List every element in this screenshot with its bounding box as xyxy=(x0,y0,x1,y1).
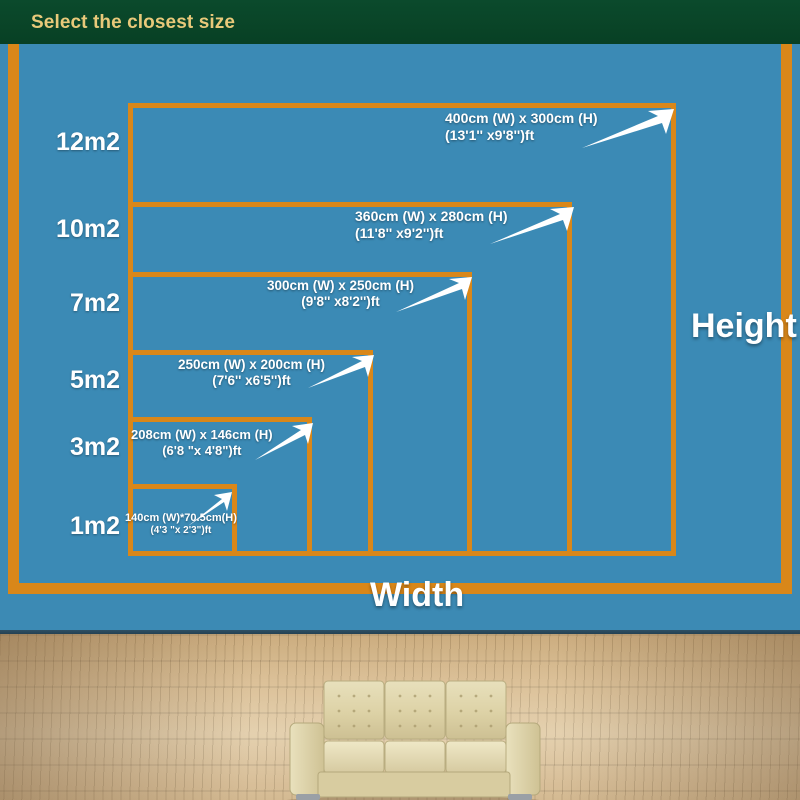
screenshot-root: 12m2 10m2 7m2 5m2 3m2 1m2 400cm (W) x 30… xyxy=(0,0,800,800)
dim-metric-5m2: 250cm (W) x 200cm (H) xyxy=(178,357,325,373)
dim-metric-10m2: 360cm (W) x 280cm (H) xyxy=(355,208,508,225)
dim-label-3m2: 208cm (W) x 146cm (H) (6'8 "x 4'8")ft xyxy=(131,427,273,459)
arrow-icon-5m2 xyxy=(306,354,376,390)
dim-imperial-12m2: (13'1'' x9'8'')ft xyxy=(445,127,598,144)
arrow-icon-7m2 xyxy=(394,276,474,314)
area-label-12m2: 12m2 xyxy=(42,128,120,157)
dim-metric-12m2: 400cm (W) x 300cm (H) xyxy=(445,110,598,127)
dim-imperial-3m2: (6'8 "x 4'8")ft xyxy=(131,443,273,459)
dim-label-5m2: 250cm (W) x 200cm (H) (7'6'' x6'5'')ft xyxy=(178,357,325,390)
area-label-1m2: 1m2 xyxy=(42,512,120,541)
area-label-10m2: 10m2 xyxy=(42,215,120,244)
floor-shadow-right xyxy=(560,634,800,800)
page-title: Select the closest size xyxy=(31,12,235,34)
floor-shadow-left xyxy=(0,634,250,800)
area-label-3m2: 3m2 xyxy=(42,433,120,462)
arrow-icon-10m2 xyxy=(488,206,576,246)
arrow-icon-1m2 xyxy=(186,490,234,528)
dim-metric-7m2: 300cm (W) x 250cm (H) xyxy=(267,278,414,294)
dim-imperial-5m2: (7'6'' x6'5'')ft xyxy=(178,373,325,389)
dim-metric-3m2: 208cm (W) x 146cm (H) xyxy=(131,427,273,443)
axis-label-width: Width xyxy=(370,576,464,615)
dim-imperial-7m2: (9'8'' x8'2'')ft xyxy=(267,294,414,310)
axis-label-height: Height xyxy=(691,307,797,346)
sofa-image xyxy=(268,675,558,800)
arrow-icon-12m2 xyxy=(580,108,676,150)
area-label-7m2: 7m2 xyxy=(42,289,120,318)
size-chart-content: 12m2 10m2 7m2 5m2 3m2 1m2 400cm (W) x 30… xyxy=(8,12,792,594)
dim-label-7m2: 300cm (W) x 250cm (H) (9'8'' x8'2'')ft xyxy=(267,278,414,311)
area-label-5m2: 5m2 xyxy=(42,366,120,395)
dim-imperial-10m2: (11'8'' x9'2'')ft xyxy=(355,225,508,242)
dim-label-10m2: 360cm (W) x 280cm (H) (11'8'' x9'2'')ft xyxy=(355,208,508,242)
dim-label-12m2: 400cm (W) x 300cm (H) (13'1'' x9'8'')ft xyxy=(445,110,598,144)
arrow-icon-3m2 xyxy=(253,422,315,462)
